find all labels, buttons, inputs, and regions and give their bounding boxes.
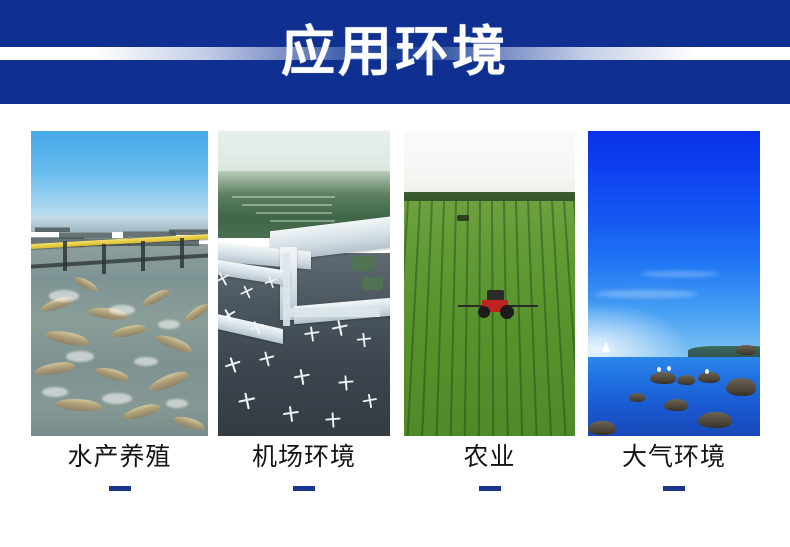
gallery-label-text: 农业 — [404, 440, 575, 474]
label-underline-dash — [293, 486, 315, 491]
aircraft-icon — [325, 411, 341, 427]
gallery-label-aquaculture: 水产养殖 — [31, 440, 208, 491]
gallery-image-airport — [218, 131, 390, 436]
agriculture-scene — [404, 131, 575, 436]
aquaculture-scene — [31, 131, 208, 436]
sky-region — [404, 131, 575, 198]
label-underline-dash — [109, 486, 131, 491]
label-underline-dash — [663, 486, 685, 491]
gallery-labels: 水产养殖 机场环境 农业 大气环境 — [0, 440, 790, 510]
application-environment-gallery — [0, 131, 790, 436]
aircraft-icon — [362, 393, 379, 410]
atmosphere-scene — [588, 131, 760, 436]
gallery-image-atmosphere — [588, 131, 760, 436]
gallery-label-atmosphere: 大气环境 — [588, 440, 760, 491]
rail-post — [63, 241, 67, 271]
gallery-label-text: 大气环境 — [588, 440, 760, 474]
sailboat — [602, 341, 610, 352]
airport-scene — [218, 131, 390, 436]
rail-post — [102, 244, 106, 274]
aircraft-icon — [292, 368, 311, 387]
gallery-label-text: 机场环境 — [218, 440, 390, 474]
aircraft-icon — [330, 319, 349, 338]
page-title: 应用环境 — [0, 0, 790, 104]
aircraft-icon — [356, 332, 372, 348]
page-header-banner: 应用环境 — [0, 0, 790, 104]
landscaping — [362, 277, 383, 289]
sky-region — [31, 131, 208, 226]
gallery-image-agriculture — [404, 131, 575, 436]
gallery-label-text: 水产养殖 — [31, 440, 208, 474]
gallery-image-aquaculture — [31, 131, 208, 436]
label-underline-dash — [479, 486, 501, 491]
aircraft-icon — [303, 326, 320, 343]
cloud-wisp — [595, 290, 698, 298]
landscaping — [352, 256, 376, 271]
gallery-label-agriculture: 农业 — [404, 440, 575, 491]
aircraft-icon — [338, 375, 354, 391]
rail-post — [180, 238, 184, 268]
rail-post — [141, 241, 145, 271]
gallery-label-airport: 机场环境 — [218, 440, 390, 491]
distant-machine — [457, 215, 469, 221]
aircraft-icon — [282, 404, 300, 422]
tractor — [474, 290, 526, 322]
